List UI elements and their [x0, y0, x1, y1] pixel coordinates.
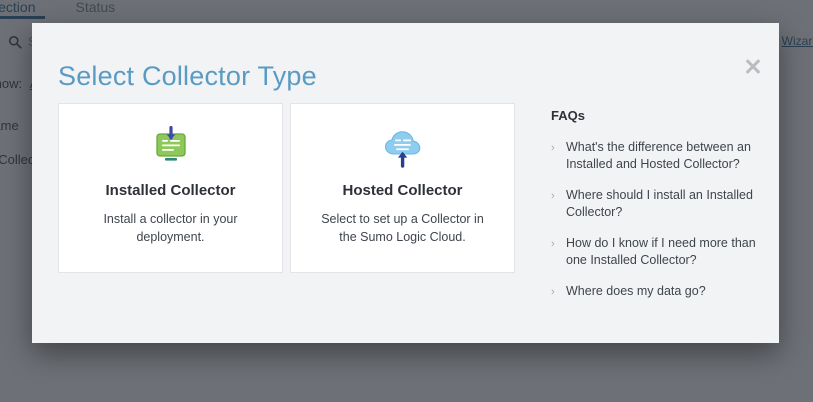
close-icon[interactable] — [743, 56, 763, 76]
faq-item[interactable]: › What's the difference between an Insta… — [551, 139, 766, 173]
faqs-panel: FAQs › What's the difference between an … — [551, 103, 766, 314]
app-root: Collection Status Search Wizard Show: Al… — [0, 0, 813, 402]
card-installed-collector-description: Install a collector in your deployment. — [81, 210, 261, 246]
faq-item-text: Where should I install an Installed Coll… — [566, 187, 766, 221]
faq-item[interactable]: › Where does my data go? — [551, 283, 766, 300]
faq-item-text: How do I know if I need more than one In… — [566, 235, 766, 269]
faq-item-text: What's the difference between an Install… — [566, 139, 766, 173]
collector-type-cards: Installed Collector Install a collector … — [58, 103, 515, 273]
card-hosted-collector[interactable]: Hosted Collector Select to set up a Coll… — [290, 103, 515, 273]
chevron-right-icon: › — [551, 188, 560, 204]
chevron-right-icon: › — [551, 284, 560, 300]
dialog-body: Installed Collector Install a collector … — [58, 103, 779, 343]
card-installed-collector[interactable]: Installed Collector Install a collector … — [58, 103, 283, 273]
cloud-upload-icon — [380, 126, 426, 170]
chevron-right-icon: › — [551, 236, 560, 252]
card-hosted-collector-description: Select to set up a Collector in the Sumo… — [313, 210, 493, 246]
select-collector-type-dialog: Select Collector Type — [32, 23, 779, 343]
card-hosted-collector-title: Hosted Collector — [342, 182, 462, 199]
dialog-title: Select Collector Type — [58, 61, 317, 92]
card-installed-collector-title: Installed Collector — [105, 182, 235, 199]
faq-item[interactable]: › Where should I install an Installed Co… — [551, 187, 766, 221]
faqs-heading: FAQs — [551, 108, 766, 123]
faq-item[interactable]: › How do I know if I need more than one … — [551, 235, 766, 269]
chevron-right-icon: › — [551, 140, 560, 156]
monitor-download-icon — [148, 126, 194, 170]
faq-item-text: Where does my data go? — [566, 283, 706, 300]
